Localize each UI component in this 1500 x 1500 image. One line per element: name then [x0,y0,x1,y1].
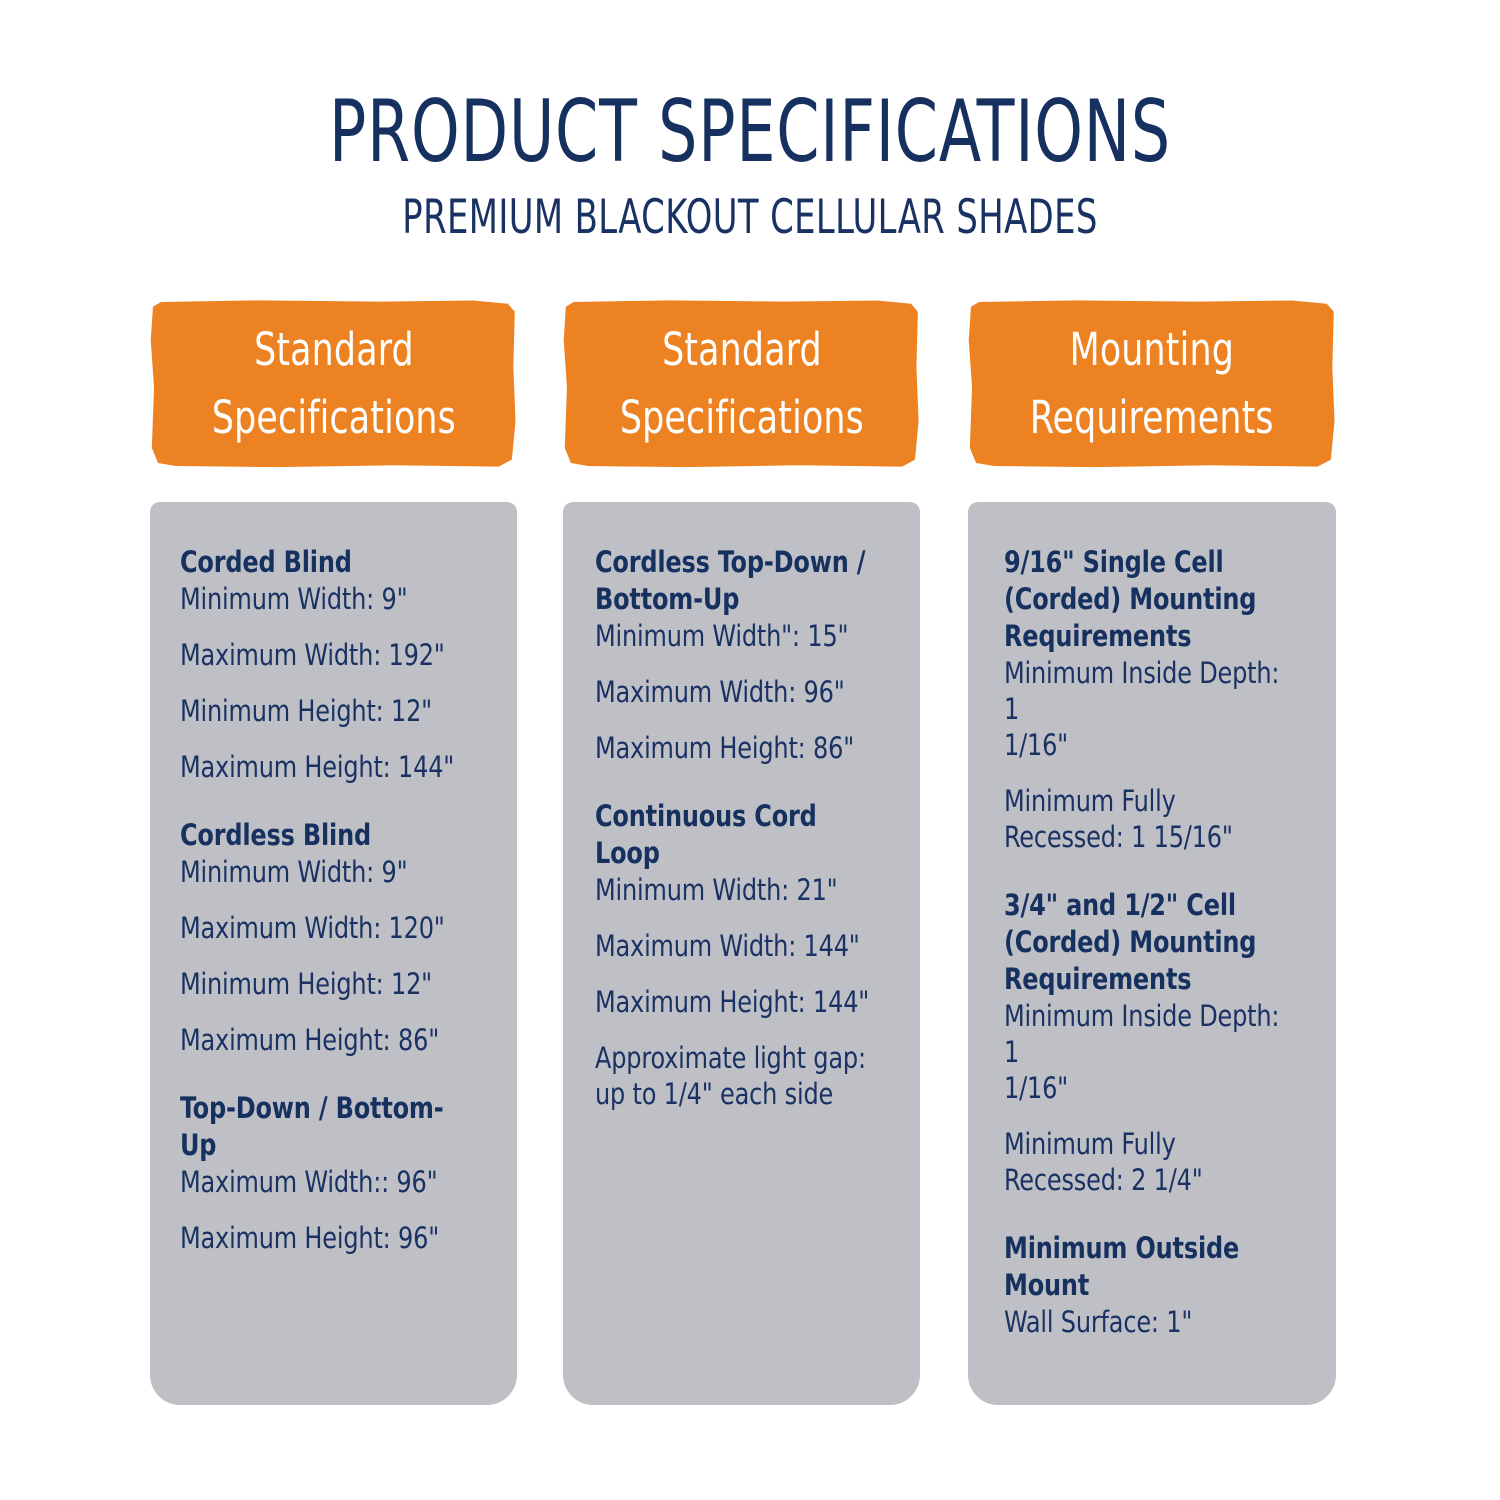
spec-group-corded-blind: Corded Blind Minimum Width: 9" Maximum W… [180,544,487,785]
spec-line: Minimum Width": 15" [595,618,872,654]
spec-line: Maximum Height: 86" [180,1022,462,1058]
spec-line: Minimum Width: 21" [595,872,872,908]
spec-group-single-cell-corded-mounting: 9/16" Single Cell (Corded) Mounting Requ… [1004,544,1312,855]
spec-line: Minimum Width: 9" [180,854,462,890]
spec-column-mounting-requirements: Mounting Requirements 9/16" Single Cell … [968,300,1336,1420]
page-title: PRODUCT SPECIFICATIONS [150,86,1350,178]
spec-line: Maximum Height: 86" [595,730,872,766]
infographic-page: PRODUCT SPECIFICATIONS PREMIUM BLACKOUT … [0,0,1500,1500]
spec-line: Minimum Height: 12" [180,966,462,1002]
spec-group-cordless-top-down-bottom-up: Cordless Top-Down / Bottom-Up Minimum Wi… [595,544,896,766]
spec-line: Minimum Height: 12" [180,693,462,729]
spec-column-standard-specifications-2: Standard Specifications Cordless Top-Dow… [563,300,920,1420]
spec-line: Maximum Height: 96" [180,1220,462,1256]
column-panel-1: Corded Blind Minimum Width: 9" Maximum W… [150,502,517,1405]
spec-line: Wall Surface: 1" [1004,1304,1287,1340]
spec-group-heading: 9/16" Single Cell (Corded) Mounting Requ… [1004,544,1287,655]
column-badge-3: Mounting Requirements [968,300,1336,468]
spec-line: Minimum Fully Recessed: 2 1/4" [1004,1126,1287,1198]
spec-line: Minimum Fully Recessed: 1 15/16" [1004,783,1287,855]
spec-line: Minimum Inside Depth: 1 1/16" [1004,998,1287,1106]
spec-group-top-down-bottom-up: Top-Down / Bottom-Up Maximum Width:: 96"… [180,1090,487,1256]
spec-line: Maximum Width: 192" [180,637,462,673]
spec-line: Maximum Width: 96" [595,674,872,710]
column-badge-1: Standard Specifications [150,300,517,468]
spec-group-heading: Continuous Cord Loop [595,798,872,872]
spec-line: Maximum Width: 144" [595,928,872,964]
spec-line: Maximum Height: 144" [595,984,872,1020]
spec-group-heading: Top-Down / Bottom-Up [180,1090,462,1164]
spec-group-continuous-cord-loop: Continuous Cord Loop Minimum Width: 21" … [595,798,896,1112]
spec-group-heading: Cordless Top-Down / Bottom-Up [595,544,872,618]
page-subtitle: PREMIUM BLACKOUT CELLULAR SHADES [150,190,1350,246]
title-block: PRODUCT SPECIFICATIONS PREMIUM BLACKOUT … [0,86,1500,246]
spec-line: Minimum Inside Depth: 1 1/16" [1004,655,1287,763]
spec-group-heading: Corded Blind [180,544,462,581]
spec-group-minimum-outside-mount: Minimum Outside Mount Wall Surface: 1" [1004,1230,1312,1340]
spec-group-heading: Cordless Blind [180,817,462,854]
column-badge-label-2: Standard Specifications [619,316,863,452]
column-badge-label-1: Standard Specifications [211,316,455,452]
column-badge-label-3: Mounting Requirements [1030,316,1274,452]
spec-group-cordless-blind: Cordless Blind Minimum Width: 9" Maximum… [180,817,487,1058]
spec-line: Maximum Width: 120" [180,910,462,946]
column-panel-3: 9/16" Single Cell (Corded) Mounting Requ… [968,502,1336,1405]
spec-line: Approximate light gap: up to 1/4" each s… [595,1040,872,1112]
spec-line: Maximum Width:: 96" [180,1164,462,1200]
spec-column-standard-specifications-1: Standard Specifications Corded Blind Min… [150,300,517,1420]
column-panel-2: Cordless Top-Down / Bottom-Up Minimum Wi… [563,502,920,1405]
column-badge-2: Standard Specifications [563,300,920,468]
spec-line: Maximum Height: 144" [180,749,462,785]
spec-group-heading: Minimum Outside Mount [1004,1230,1287,1304]
spec-line: Minimum Width: 9" [180,581,462,617]
spec-group-heading: 3/4" and 1/2" Cell (Corded) Mounting Req… [1004,887,1287,998]
spec-columns: Standard Specifications Corded Blind Min… [0,300,1500,1420]
spec-group-three-quarter-half-cell-corded-mounting: 3/4" and 1/2" Cell (Corded) Mounting Req… [1004,887,1312,1198]
